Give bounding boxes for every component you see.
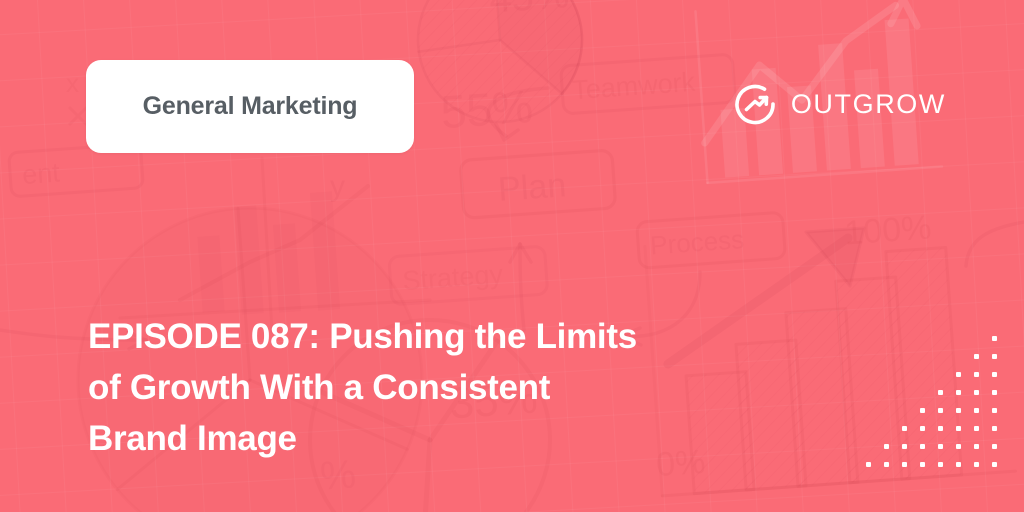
svg-text:Plan: Plan [497,166,568,209]
svg-text:100%: 100% [843,208,932,252]
doodle-pie-top: 55% 45% [412,0,588,139]
svg-text:ent: ent [21,157,61,190]
category-badge[interactable]: General Marketing [86,60,414,153]
brand-wordmark: OUTGROW [791,91,946,118]
svg-text:Strategy: Strategy [401,259,504,296]
brand-logo[interactable]: OUTGROW [734,82,946,126]
podcast-episode-banner: 55% 45% 35% % [0,0,1024,512]
svg-text:x: x [66,68,79,98]
dot-triangle-decoration [866,336,997,467]
svg-text:Teamwork: Teamwork [571,67,696,106]
svg-text:45%: 45% [488,0,571,22]
outgrow-circle-arrow-icon [734,82,778,126]
episode-title-line-2: of Growth With a Consistent [88,362,788,413]
category-badge-label: General Marketing [143,92,358,121]
svg-text:55%: 55% [439,80,534,138]
svg-text:Process: Process [649,224,745,260]
svg-text:y: y [330,170,345,203]
episode-title-line-1: EPISODE 087: Pushing the Limits [88,311,788,362]
episode-title-line-3: Brand Image [88,413,788,464]
episode-title: EPISODE 087: Pushing the Limits of Growt… [88,311,788,464]
